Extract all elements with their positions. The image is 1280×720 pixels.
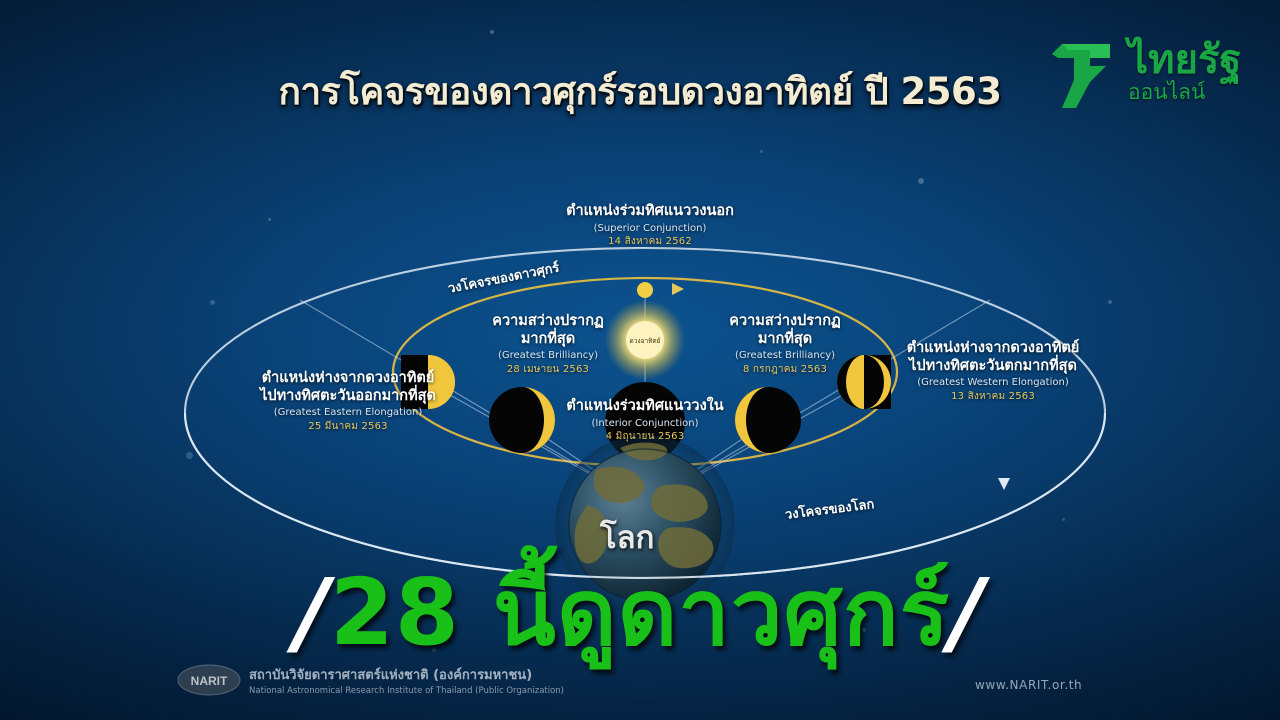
- narit-org-th: สถาบันวิจัยดาราศาสตร์แห่งชาติ (องค์การมห…: [249, 664, 564, 685]
- venus-phase-brilliancy-july[interactable]: [735, 387, 801, 453]
- narit-org-names: สถาบันวิจัยดาราศาสตร์แห่งชาติ (องค์การมห…: [249, 664, 564, 696]
- narit-logo-icon: NARIT: [176, 662, 242, 698]
- sun-body: [626, 321, 664, 359]
- venus-phase-western-elongation[interactable]: [837, 355, 891, 409]
- marker-superior-conjunction[interactable]: [637, 282, 653, 298]
- venus-phase-brilliancy-april[interactable]: [489, 387, 555, 453]
- narit-org-en: National Astronomical Research Institute…: [249, 686, 564, 696]
- narit-website[interactable]: www.NARIT.or.th: [975, 678, 1082, 692]
- narit-credit: NARIT สถาบันวิจัยดาราศาสตร์แห่งชาติ (องค…: [176, 662, 564, 698]
- venus-orbit-diagram: [0, 0, 1280, 720]
- infographic-canvas: การโคจรของดาวศุกร์รอบดวงอาทิตย์ ปี 2563 …: [0, 0, 1280, 720]
- venus-phase-eastern-elongation[interactable]: [401, 355, 455, 409]
- narit-logo-text: NARIT: [191, 674, 228, 688]
